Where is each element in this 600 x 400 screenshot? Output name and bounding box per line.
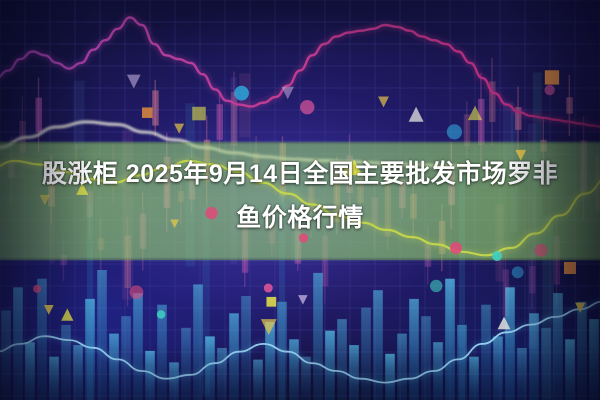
banner-title: 股涨柜 2025年9月14日全国主要批发市场罗非 鱼价格行情	[0, 152, 600, 240]
banner-title-line-1: 股涨柜 2025年9月14日全国主要批发市场罗非	[0, 152, 600, 196]
market-banner-image: 股涨柜 2025年9月14日全国主要批发市场罗非 鱼价格行情	[0, 0, 600, 400]
banner-title-line-2: 鱼价格行情	[0, 196, 600, 240]
